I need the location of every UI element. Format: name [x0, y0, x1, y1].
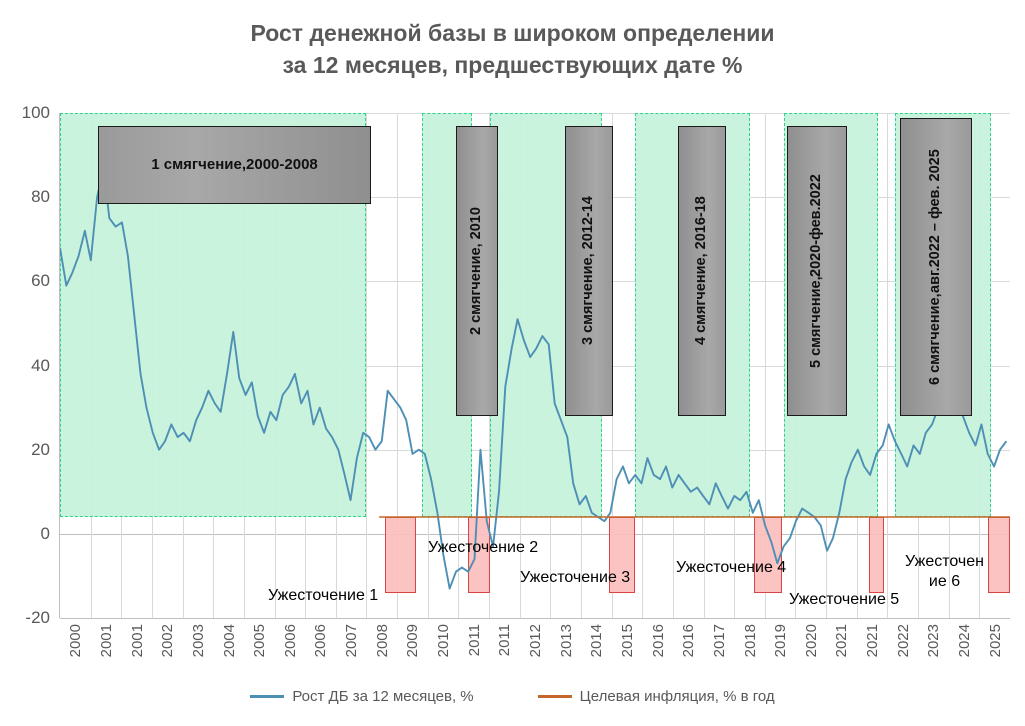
x-tick-label-24: 2020 [803, 624, 820, 657]
label-tightening-5: Ужесточение 5 [789, 590, 899, 610]
y-tick-label-40: 40 [4, 356, 50, 376]
callout-text-line: 2 смягчение, 2010 [467, 207, 487, 335]
x-tick-label-4: 2003 [190, 624, 207, 657]
chart-title: Рост денежной базы в широком определении… [0, 18, 1025, 81]
y-tick-label-0: 0 [4, 524, 50, 544]
x-tick-label-9: 2007 [343, 624, 360, 657]
label-tightening-3: Ужесточение 3 [520, 568, 630, 588]
x-tick-label-23: 2019 [772, 624, 789, 657]
legend-label: Целевая инфляция, % в год [580, 688, 775, 705]
x-tick-label-16: 2013 [558, 624, 575, 657]
callout-easing-2: 2 смягчение, 2010 [456, 126, 498, 416]
x-tick-label-21: 2017 [711, 624, 728, 657]
label-tightening-4: Ужесточение 4 [676, 558, 786, 578]
x-tick-label-14: 2011 [496, 624, 513, 656]
x-tick-label-1: 2001 [98, 624, 115, 657]
x-tick-label-13: 2011 [466, 624, 483, 656]
callout-easing-5: 5 смягчение,2020-фев.2022 [787, 126, 847, 416]
label-tightening-1: Ужесточение 1 [268, 586, 378, 606]
label-tightening-2: Ужесточение 2 [428, 538, 538, 558]
x-tick-label-28: 2023 [925, 624, 942, 657]
series-line-monetary-base [60, 168, 1006, 589]
callout-text-line: 4 смягчение, 2016-18 [692, 197, 712, 346]
callout-easing-1: 1 смягчение,2000-2008 [98, 126, 371, 204]
callout-text-line: 5 смягчение, [807, 277, 827, 369]
x-tick-label-15: 2012 [527, 624, 544, 657]
y-axis-line [59, 113, 60, 618]
callout-text-line: авг.2022 – фев. 2025 [926, 149, 946, 293]
x-tick-label-30: 2025 [987, 624, 1004, 657]
legend-swatch-icon [250, 695, 284, 698]
legend-item-2[interactable]: Целевая инфляция, % в год [538, 688, 775, 705]
x-tick-label-2: 2001 [129, 624, 146, 657]
x-tick-label-20: 2016 [680, 624, 697, 657]
x-tick-label-27: 2022 [895, 624, 912, 657]
x-tick-label-10: 2008 [374, 624, 391, 657]
callout-easing-6: 6 смягчение,авг.2022 – фев. 2025 [900, 118, 972, 416]
chart-legend: Рост ДБ за 12 месяцев, %Целевая инфляция… [0, 688, 1025, 705]
x-tick-label-25: 2021 [833, 624, 850, 657]
x-tick-label-12: 2010 [435, 624, 452, 657]
x-tick-label-22: 2018 [742, 624, 759, 657]
callout-easing-4: 4 смягчение, 2016-18 [678, 126, 726, 416]
x-tick-label-8: 2006 [312, 624, 329, 657]
chart-container: Рост денежной базы в широком определении… [0, 0, 1025, 726]
x-tick-label-29: 2024 [956, 624, 973, 657]
callout-text-line: 3 смягчение, 2012-14 [579, 197, 599, 346]
y-tick-label--20: -20 [4, 608, 50, 628]
x-tick-label-5: 2004 [221, 624, 238, 657]
label-tightening-6: Ужесточен ие 6 [905, 552, 984, 592]
y-tick-label-60: 60 [4, 271, 50, 291]
x-tick-label-26: 2021 [864, 624, 881, 657]
x-tick-label-7: 2006 [282, 624, 299, 657]
callout-text-line: 2020-фев.2022 [807, 174, 827, 277]
legend-label: Рост ДБ за 12 месяцев, % [292, 688, 473, 705]
y-tick-label-100: 100 [4, 103, 50, 123]
callout-easing-3: 3 смягчение, 2012-14 [565, 126, 613, 416]
x-tick-label-17: 2014 [588, 624, 605, 657]
x-tick-label-3: 2002 [159, 624, 176, 657]
x-tick-label-6: 2005 [251, 624, 268, 657]
x-axis-line [60, 618, 1010, 619]
callout-text-line: 2000-2008 [246, 155, 318, 175]
x-tick-label-0: 2000 [67, 624, 84, 657]
chart-title-line1: Рост денежной базы в широком определении [0, 18, 1025, 50]
x-tick-label-11: 2009 [404, 624, 421, 657]
y-tick-label-20: 20 [4, 440, 50, 460]
callout-text-line: 1 смягчение, [151, 155, 246, 175]
y-tick-label-80: 80 [4, 187, 50, 207]
x-tick-label-18: 2015 [619, 624, 636, 657]
callout-text-line: 6 смягчение, [926, 293, 946, 385]
legend-swatch-icon [538, 695, 572, 698]
chart-title-line2: за 12 месяцев, предшествующих дате % [0, 50, 1025, 82]
legend-item-1[interactable]: Рост ДБ за 12 месяцев, % [250, 688, 473, 705]
x-tick-label-19: 2016 [650, 624, 667, 657]
